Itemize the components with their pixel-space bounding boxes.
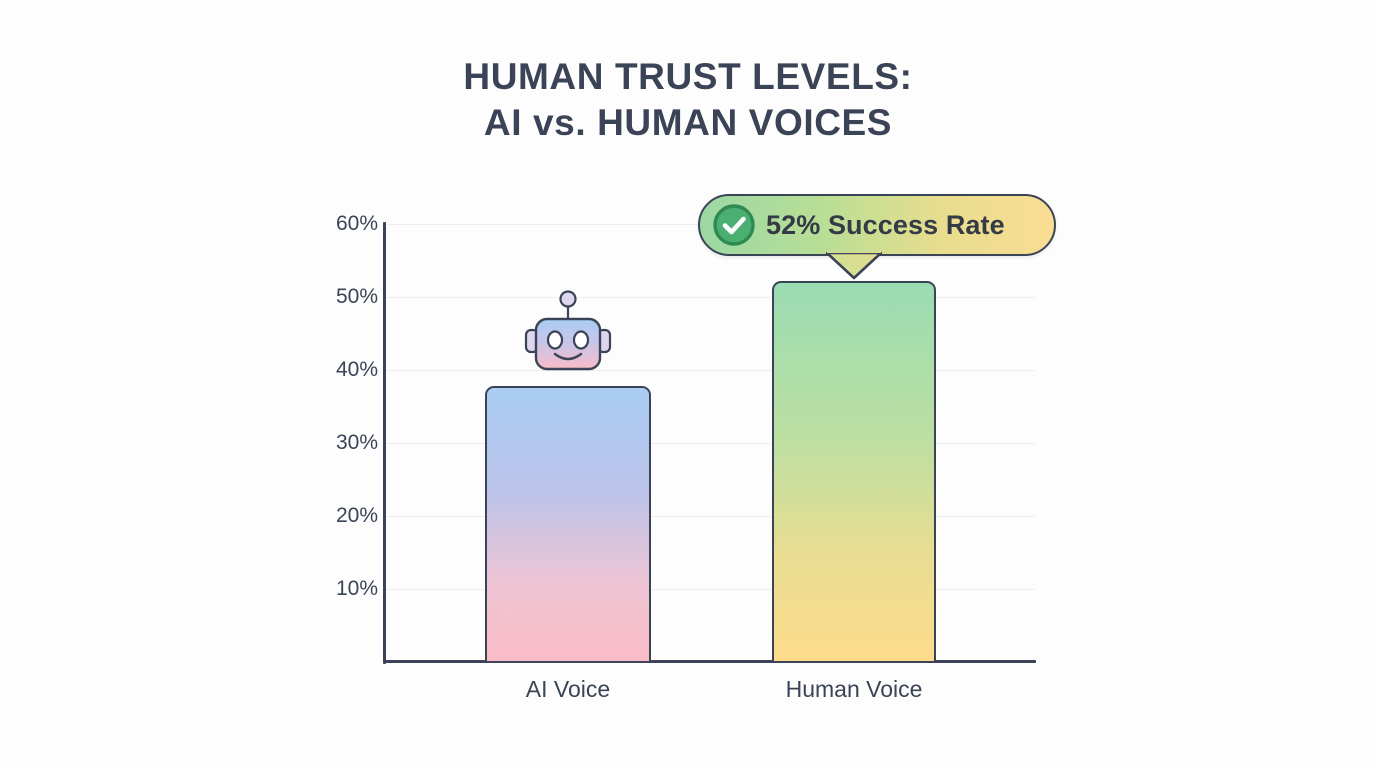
gridline-30 [385, 443, 1035, 444]
chart-canvas: HUMAN TRUST LEVELS: AI vs. HUMAN VOICES … [0, 0, 1376, 768]
y-tick-label-50: 50% [318, 285, 378, 309]
gridline-40 [385, 370, 1035, 371]
gridline-20 [385, 516, 1035, 517]
page-title: HUMAN TRUST LEVELS: AI vs. HUMAN VOICES [0, 58, 1376, 143]
bar-ai-voice[interactable] [485, 386, 651, 663]
gridline-50 [385, 297, 1035, 298]
robot-icon [519, 290, 617, 372]
y-tick-label-20: 20% [318, 504, 378, 528]
y-tick-label-60: 60% [318, 212, 378, 236]
title-line-1: HUMAN TRUST LEVELS: [0, 58, 1376, 96]
title-line-2: AI vs. HUMAN VOICES [0, 104, 1376, 142]
x-axis-line [383, 660, 1036, 663]
y-tick-label-40: 40% [318, 358, 378, 382]
check-circle-icon [712, 203, 756, 247]
plot-area [385, 224, 1035, 662]
x-tick-label-ai-voice: AI Voice [468, 676, 668, 703]
y-tick-label-30: 30% [318, 431, 378, 455]
y-axis-line [383, 222, 386, 664]
success-rate-callout[interactable]: 52% Success Rate [698, 194, 1056, 256]
callout-label: 52% Success Rate [766, 210, 1005, 241]
x-tick-label-human-voice: Human Voice [754, 676, 954, 703]
y-tick-label-10: 10% [318, 577, 378, 601]
callout-tail [826, 252, 882, 280]
gridline-10 [385, 589, 1035, 590]
bar-human-voice[interactable] [772, 281, 936, 663]
